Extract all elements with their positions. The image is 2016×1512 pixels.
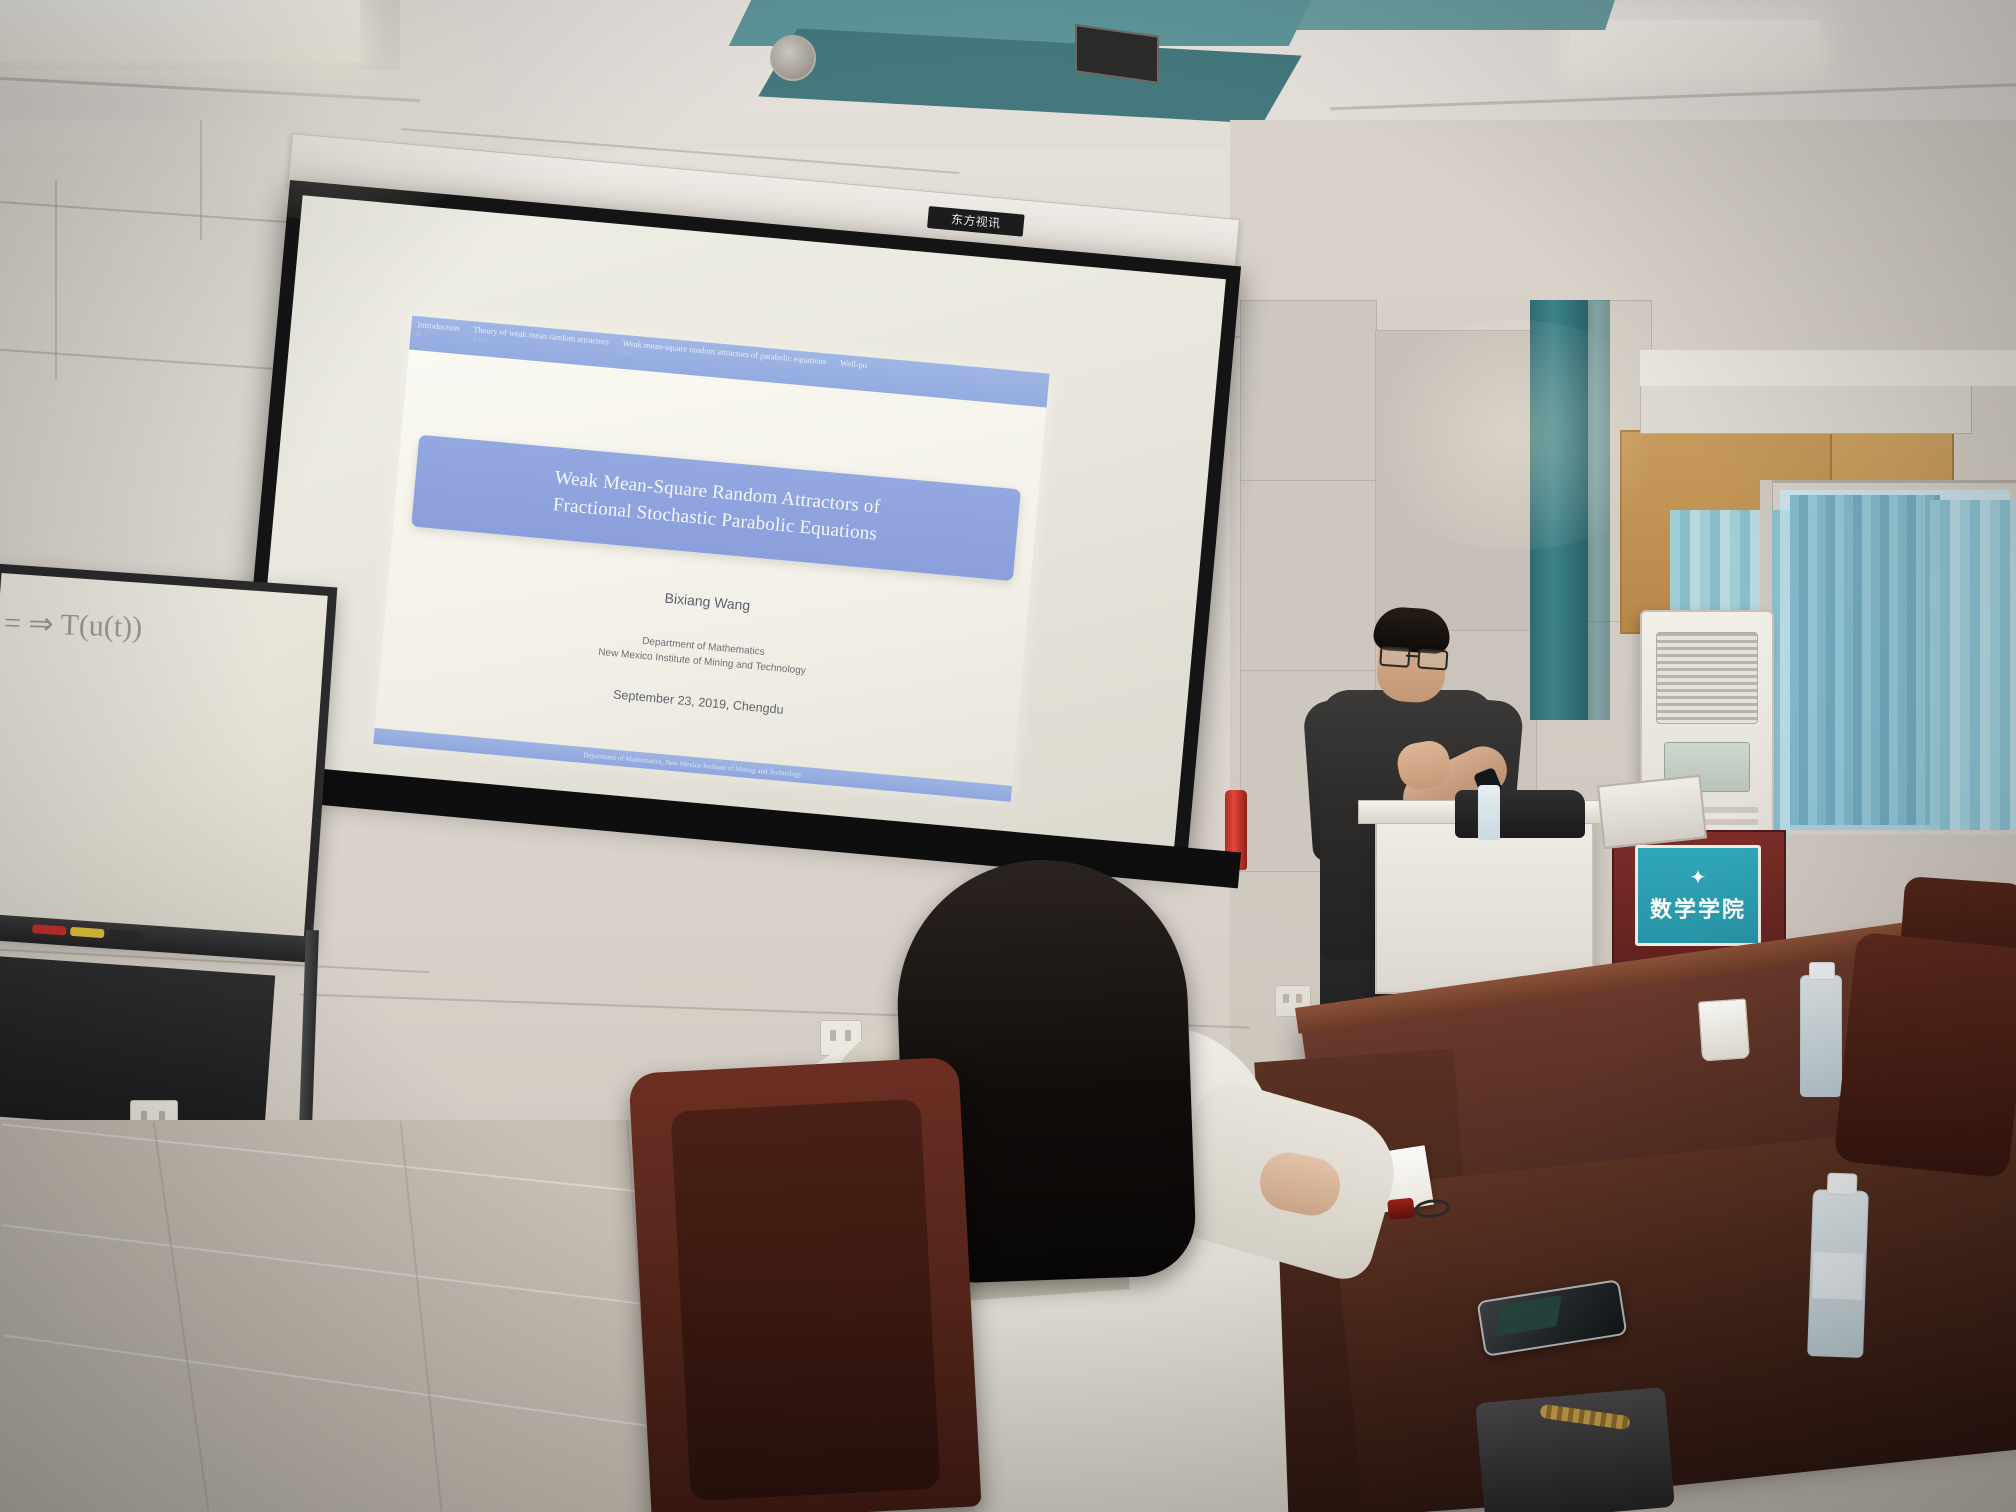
handbag[interactable] [1475, 1387, 1675, 1512]
pillar-teal [1530, 300, 1588, 720]
nav-item-3: Well-po [840, 358, 868, 370]
wall-seam-v1 [55, 180, 57, 380]
ceiling-seam-2 [1330, 83, 2016, 110]
water-bottle-far[interactable] [1800, 975, 1842, 1097]
nav-item-1: Theory of weak mean random attractors ○○… [472, 324, 609, 355]
marker-black [108, 929, 143, 940]
ceiling-speaker-left [770, 35, 816, 81]
chair-right[interactable] [1833, 931, 2016, 1178]
university-logo-icon: ✦ [1690, 868, 1707, 888]
whiteboard-writing: = ⇒ T(u(t)) [3, 605, 234, 648]
podium [1375, 815, 1594, 994]
presenter-glasses-icon [1380, 646, 1445, 666]
beamer-slide: Introduction ○ Theory of weak mean rando… [373, 316, 1049, 802]
marker-red [32, 924, 67, 935]
wall-panel-4 [1375, 330, 1537, 632]
ceiling-light-left [0, 0, 360, 62]
slide-title-box: Weak Mean-Square Random Attractors of Fr… [411, 435, 1021, 581]
podium-sign-text: 数学学院 [1650, 892, 1746, 924]
nav-item-2: Weak mean-square random attractors of pa… [622, 338, 827, 375]
podium-laptop [1597, 775, 1707, 850]
wall-panel-1 [1240, 300, 1377, 482]
wall-seam-v2 [200, 120, 202, 240]
ceiling-light-far [1570, 20, 1820, 66]
lecture-room-photo: 东方视讯 Introduction ○ Theory of weak mean … [0, 0, 2016, 1512]
podium-water-bottle [1478, 785, 1500, 840]
paper-cup[interactable] [1698, 998, 1750, 1061]
whiteboard-surface: = ⇒ T(u(t)) [0, 573, 328, 942]
podium-bag [1455, 790, 1585, 838]
ac-grille [1656, 632, 1758, 724]
nav-item-0: Introduction ○ [416, 319, 460, 342]
key-fob-icon [1387, 1198, 1415, 1221]
floor-tile-line-1 [2, 1123, 698, 1198]
chair-foreground[interactable] [628, 1057, 981, 1512]
pillar-teal-edge [1588, 300, 1610, 720]
podium-department-sign: ✦ 数学学院 [1635, 845, 1761, 946]
wall-panel-2 [1240, 480, 1377, 672]
marker-yellow [70, 927, 105, 938]
chair-backrest-inner [670, 1099, 940, 1502]
water-bottle-near[interactable] [1807, 1189, 1869, 1358]
curtain-right [1790, 495, 1940, 825]
ceiling-seam [0, 77, 420, 102]
projection-screen: Introduction ○ Theory of weak mean rando… [236, 180, 1241, 864]
slide-navigation-bar: Introduction ○ Theory of weak mean rando… [409, 316, 1049, 408]
window-header-band [1640, 350, 2016, 386]
floor-tile-line-v1 [153, 1122, 210, 1510]
whiteboard: = ⇒ T(u(t)) [0, 563, 337, 951]
window-sill [1760, 835, 2016, 849]
key-ring-icon [1413, 1198, 1451, 1220]
screen-brand-label: 东方视讯 [927, 206, 1025, 237]
ceiling-beam-far [1185, 0, 1615, 30]
curtain-far [1930, 500, 2016, 830]
screen-surface: Introduction ○ Theory of weak mean rando… [251, 195, 1226, 849]
floor-tile-line-v2 [400, 1121, 443, 1511]
